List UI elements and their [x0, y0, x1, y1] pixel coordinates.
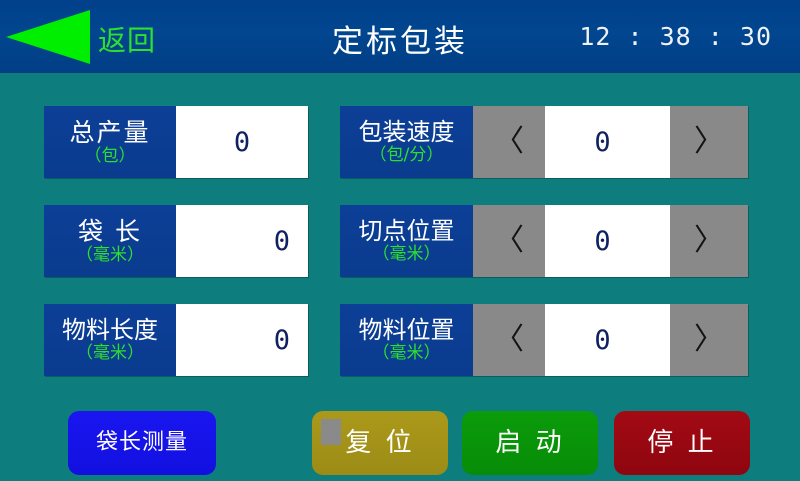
value-text: 0 — [545, 325, 670, 356]
field-total-output: 总产量 （包） 0 — [44, 106, 308, 178]
button-label: 袋长测量 — [96, 432, 188, 454]
value-box-cut-point-position[interactable]: 0 — [545, 205, 670, 277]
label-text: 物料长度 — [62, 318, 158, 342]
chevron-right-icon: 〉 — [694, 325, 724, 355]
stop-button[interactable]: 停 止 — [614, 411, 750, 475]
label-text: 袋 长 — [78, 219, 142, 244]
chevron-right-icon: 〉 — [694, 127, 724, 157]
header-bar: 返回 定标包装 12 : 38 : 30 — [0, 0, 800, 73]
button-label: 启 动 — [495, 430, 564, 456]
value-text: 0 — [545, 226, 670, 257]
label-unit: （毫米） — [373, 345, 441, 362]
label-text: 物料位置 — [359, 318, 455, 342]
value-text: 0 — [176, 127, 308, 158]
field-label-material-position: 物料位置 （毫米） — [340, 304, 473, 376]
field-label-cut-point-position: 切点位置 （毫米） — [340, 205, 473, 277]
field-cut-point-position: 切点位置 （毫米） 〈 0 〉 — [340, 205, 748, 277]
decrement-button-cut-point-position[interactable]: 〈 — [473, 205, 545, 277]
label-unit: （毫米） — [76, 247, 144, 264]
button-label: 复 位 — [345, 430, 414, 456]
chevron-left-icon: 〈 — [494, 226, 524, 256]
label-unit: （毫米） — [76, 345, 144, 362]
increment-button-material-position[interactable]: 〉 — [670, 304, 748, 376]
value-box-material-position[interactable]: 0 — [545, 304, 670, 376]
value-box-material-length[interactable]: 0 — [176, 304, 308, 376]
field-label-total-output: 总产量 （包） — [44, 106, 176, 178]
reset-button[interactable]: 复 位 — [312, 411, 448, 475]
field-label-bag-length: 袋 长 （毫米） — [44, 205, 176, 277]
hmi-screen: 返回 定标包装 12 : 38 : 30 总产量 （包） 0 袋 长 （毫米） … — [0, 0, 800, 481]
value-text: 0 — [545, 127, 670, 158]
value-text: 0 — [176, 325, 308, 356]
field-label-packing-speed: 包装速度 （包/分） — [340, 106, 473, 178]
reset-status-indicator — [321, 419, 341, 445]
value-text: 0 — [176, 226, 308, 257]
field-material-position: 物料位置 （毫米） 〈 0 〉 — [340, 304, 748, 376]
label-text: 包装速度 — [359, 120, 455, 144]
decrement-button-material-position[interactable]: 〈 — [473, 304, 545, 376]
field-bag-length: 袋 长 （毫米） 0 — [44, 205, 308, 277]
chevron-left-icon: 〈 — [494, 127, 524, 157]
clock-display: 12 : 38 : 30 — [579, 22, 772, 51]
increment-button-packing-speed[interactable]: 〉 — [670, 106, 748, 178]
chevron-left-icon: 〈 — [494, 325, 524, 355]
value-box-bag-length[interactable]: 0 — [176, 205, 308, 277]
field-label-material-length: 物料长度 （毫米） — [44, 304, 176, 376]
bag-length-measure-button[interactable]: 袋长测量 — [68, 411, 216, 475]
start-button[interactable]: 启 动 — [462, 411, 598, 475]
label-text: 切点位置 — [359, 219, 455, 243]
button-label: 停 止 — [647, 430, 716, 456]
field-packing-speed: 包装速度 （包/分） 〈 0 〉 — [340, 106, 748, 178]
label-unit: （包/分） — [370, 147, 444, 164]
decrement-button-packing-speed[interactable]: 〈 — [473, 106, 545, 178]
chevron-right-icon: 〉 — [694, 226, 724, 256]
value-box-packing-speed[interactable]: 0 — [545, 106, 670, 178]
increment-button-cut-point-position[interactable]: 〉 — [670, 205, 748, 277]
label-text: 总产量 — [69, 120, 150, 145]
label-unit: （毫米） — [373, 246, 441, 263]
field-material-length: 物料长度 （毫米） 0 — [44, 304, 308, 376]
value-box-total-output[interactable]: 0 — [176, 106, 308, 178]
label-unit: （包） — [85, 148, 136, 165]
